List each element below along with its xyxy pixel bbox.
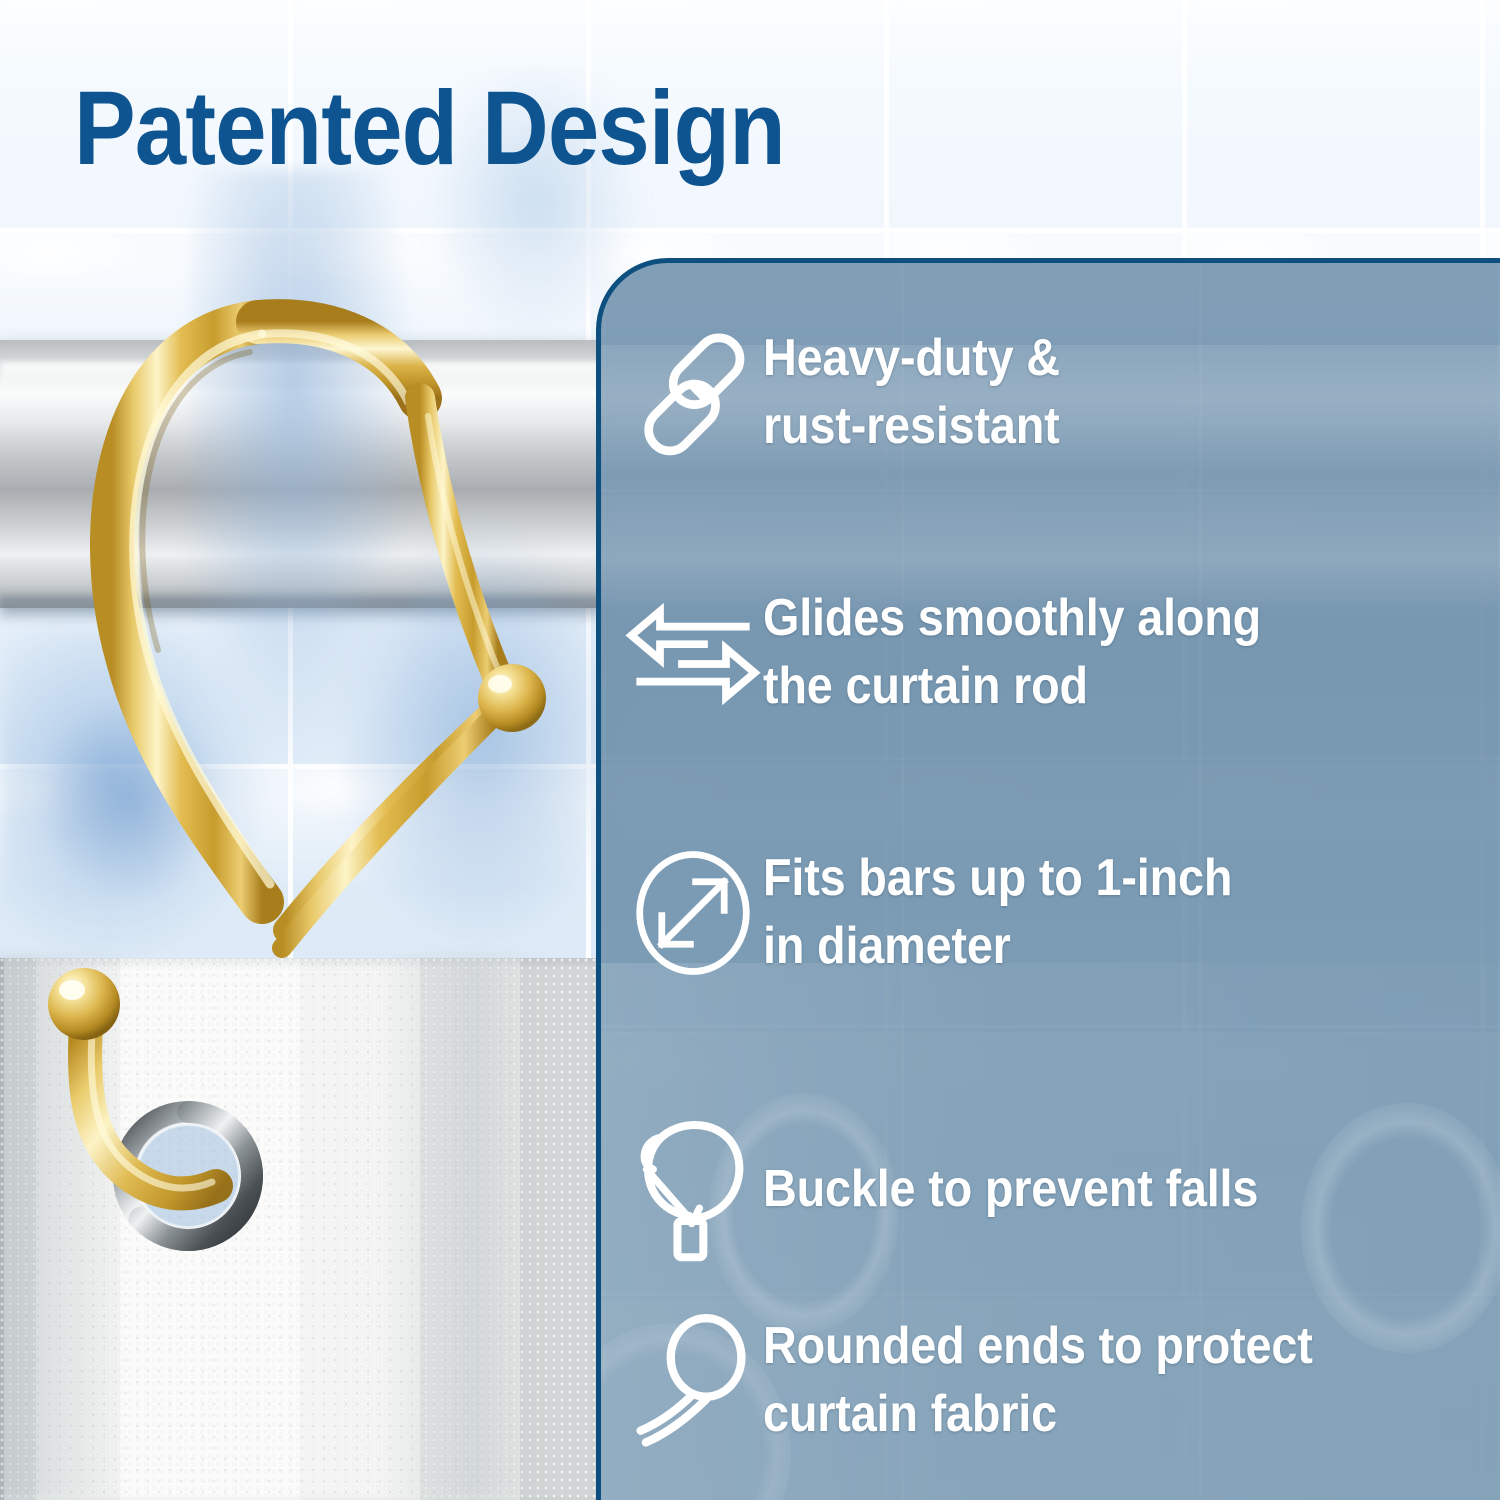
feature-label: Glides smoothly along the curtain rod [763, 585, 1261, 720]
feature-label: Rounded ends to protect curtain fabric [763, 1313, 1313, 1448]
carabiner-buckle-icon [623, 1115, 763, 1265]
feature-panel: Heavy-duty & rust-resistant Glides smoot… [596, 258, 1500, 1500]
feature-item-rounded-ends: Rounded ends to protect curtain fabric [623, 1313, 1500, 1449]
chain-link-icon [623, 325, 763, 461]
feature-label: Heavy-duty & rust-resistant [763, 325, 1060, 460]
feature-item-buckle: Buckle to prevent falls [623, 1115, 1500, 1265]
diameter-circle-icon [623, 848, 763, 978]
infographic-canvas: Patented Design Heavy-d [0, 0, 1500, 1500]
gold-double-hook [0, 230, 620, 990]
gold-hook-through-grommet [20, 960, 440, 1310]
feature-item-glides-smoothly: Glides smoothly along the curtain rod [623, 585, 1500, 720]
feature-list: Heavy-duty & rust-resistant Glides smoot… [601, 263, 1500, 1500]
feature-label: Fits bars up to 1-inch in diameter [763, 845, 1232, 980]
page-title: Patented Design [74, 76, 785, 181]
bidirectional-arrows-icon [623, 598, 763, 708]
feature-label: Buckle to prevent falls [763, 1156, 1258, 1224]
feature-item-fits-bars: Fits bars up to 1-inch in diameter [623, 845, 1500, 980]
rounded-end-ring-icon [623, 1313, 763, 1449]
feature-item-heavy-duty: Heavy-duty & rust-resistant [623, 325, 1500, 461]
